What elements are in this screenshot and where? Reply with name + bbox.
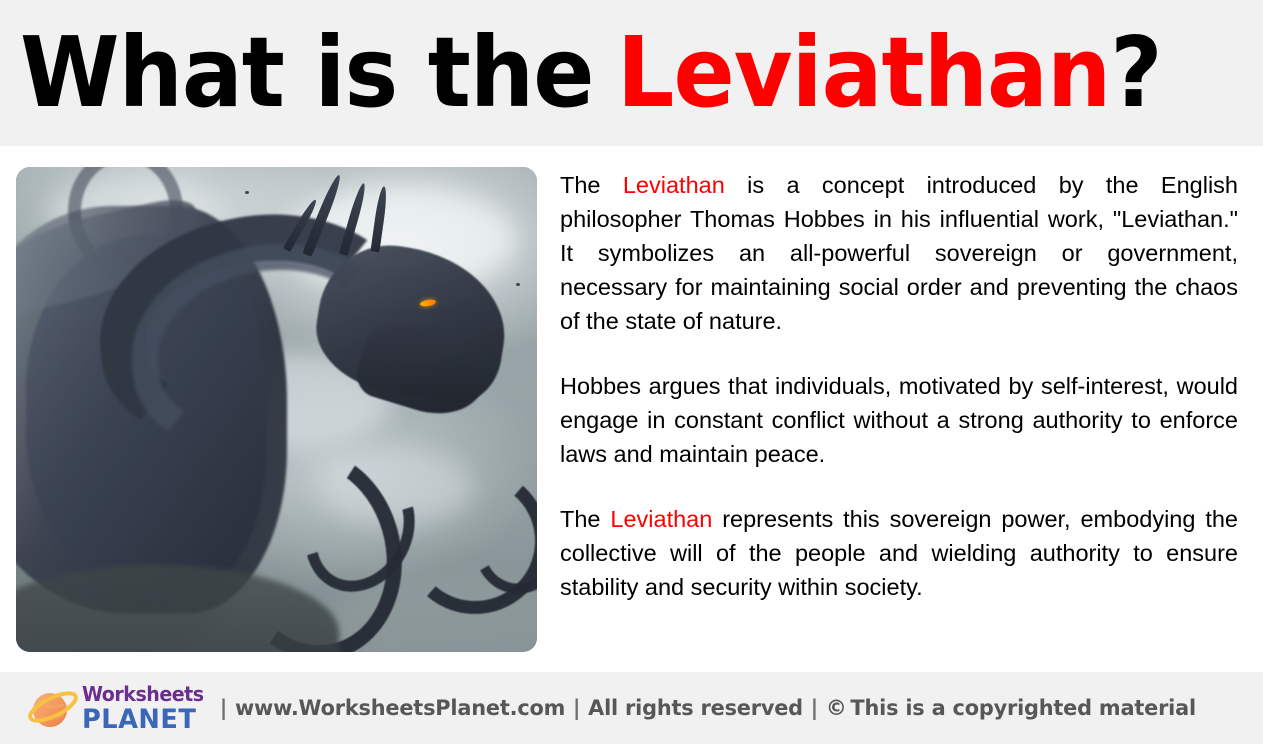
p1-highlight-leviathan: Leviathan — [623, 172, 725, 198]
footer-band: Worksheets PLANET | www.WorksheetsPlanet… — [0, 672, 1263, 744]
planet-icon — [26, 682, 78, 734]
footer-website[interactable]: www.WorksheetsPlanet.com — [235, 696, 565, 721]
p3-segment-1: The — [560, 506, 610, 532]
page-title-highlight: Leviathan — [617, 24, 1110, 121]
footer-separator-3: | — [811, 696, 818, 721]
page-title-part1: What is the — [20, 24, 593, 121]
page-title: What is the Leviathan ? — [20, 8, 1164, 136]
definition-text-column: The Leviathan is a concept introduced by… — [560, 168, 1238, 604]
leviathan-illustration — [16, 167, 537, 652]
p2-segment-1: Hobbes argues that individuals, motivate… — [560, 373, 1238, 467]
footer-copyright-text: This is a copyrighted material — [850, 696, 1196, 721]
paragraph-2: Hobbes argues that individuals, motivate… — [560, 369, 1238, 471]
p1-segment-1: The — [560, 172, 623, 198]
paragraph-1: The Leviathan is a concept introduced by… — [560, 168, 1238, 338]
page-title-question-mark: ? — [1110, 24, 1161, 121]
header-band: What is the Leviathan ? — [0, 0, 1263, 146]
logo-line-planet: PLANET — [82, 706, 204, 733]
footer-credits: | www.WorksheetsPlanet.com | All rights … — [212, 672, 1196, 744]
worksheets-planet-logo[interactable]: Worksheets PLANET — [26, 681, 210, 735]
body-area: The Leviathan is a concept introduced by… — [0, 146, 1263, 672]
footer-rights: All rights reserved — [588, 696, 803, 721]
logo-line-worksheets: Worksheets — [82, 684, 204, 704]
paragraph-3: The Leviathan represents this sovereign … — [560, 502, 1238, 604]
footer-separator-1: | — [220, 696, 227, 721]
p3-highlight-leviathan: Leviathan — [610, 506, 712, 532]
worksheet-page: What is the Leviathan ? — [0, 0, 1263, 744]
footer-separator-2: | — [573, 696, 580, 721]
logo-wordmark: Worksheets PLANET — [82, 684, 210, 733]
copyright-icon: © — [826, 696, 847, 721]
